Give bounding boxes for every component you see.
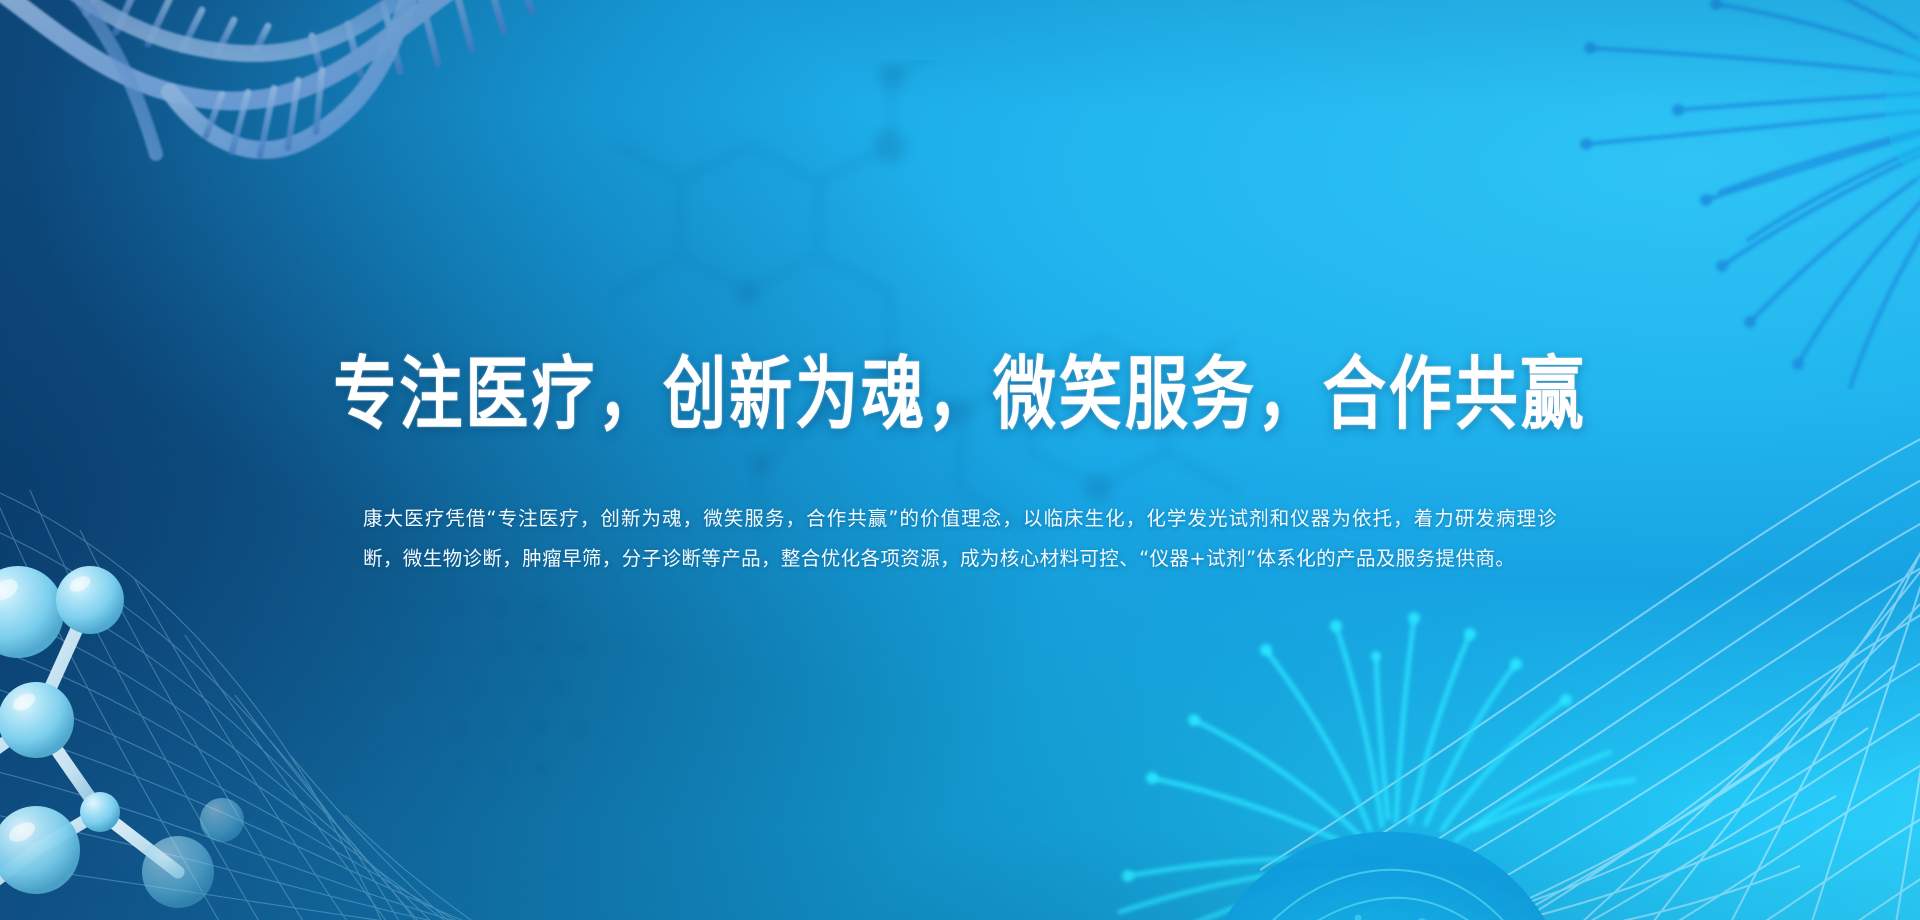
page-title: 专注医疗，创新为魂，微笑服务，合作共赢 — [29, 352, 1891, 441]
cell-filopodia-icon — [1070, 530, 1690, 920]
chemical-lattice-icon — [360, 590, 690, 820]
banner-description: 康大医疗凭借“专注医疗，创新为魂，微笑服务，合作共赢”的价值理念，以临床生化，化… — [363, 499, 1557, 579]
hero-banner: 专注医疗，创新为魂，微笑服务，合作共赢 康大医疗凭借“专注医疗，创新为魂，微笑服… — [0, 0, 1920, 920]
banner-content: 专注医疗，创新为魂，微笑服务，合作共赢 康大医疗凭借“专注医疗，创新为魂，微笑服… — [0, 352, 1920, 579]
cell-filopodia-icon — [1550, 0, 1920, 390]
dna-helix-icon — [0, 0, 620, 280]
molecule-model-icon — [0, 520, 370, 920]
